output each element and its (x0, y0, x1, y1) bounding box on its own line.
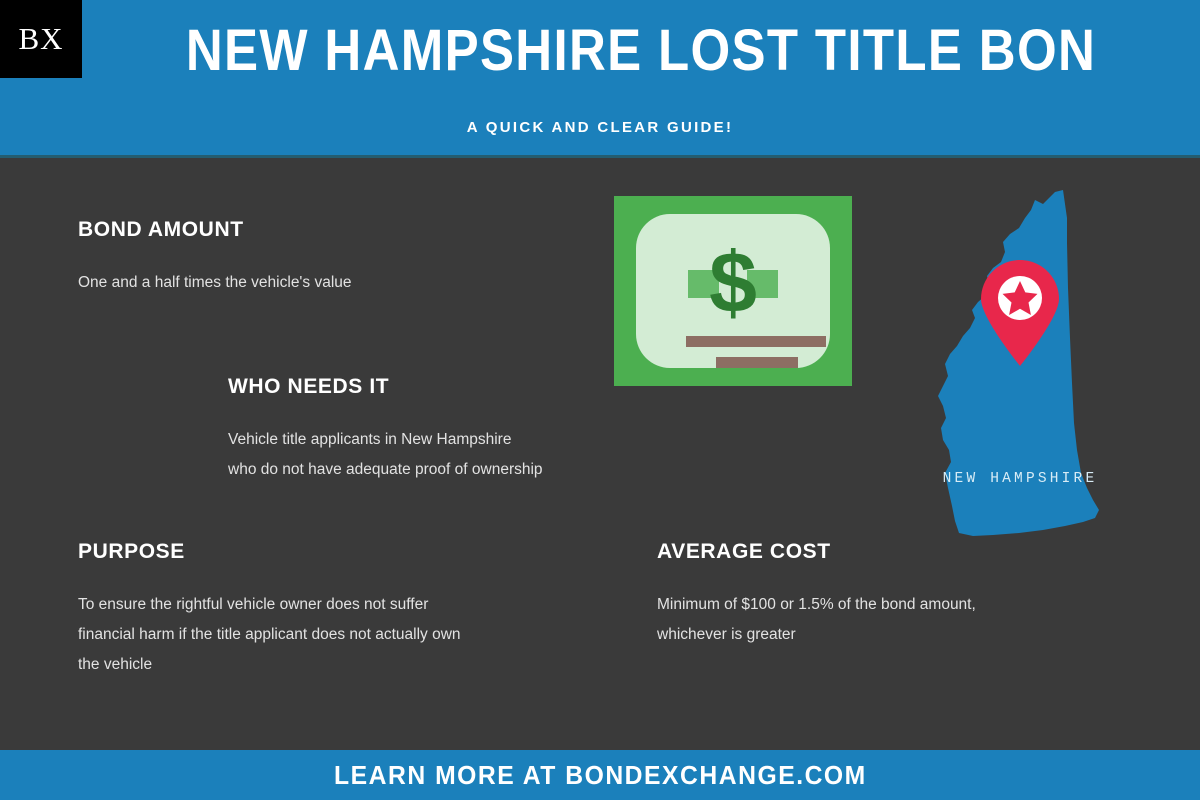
section-heading-average-cost: AVERAGE COST (657, 540, 976, 564)
section-heading-purpose: PURPOSE (78, 540, 461, 564)
map-pin-icon[interactable] (977, 260, 1063, 368)
section-line: One and a half times the vehicle's value (78, 268, 352, 298)
bx-logo[interactable]: BX (0, 0, 82, 78)
page-title: NEW HAMPSHIRE LOST TITLE BON (149, 22, 1133, 80)
footer-cta-text: LEARN MORE AT BONDEXCHANGE.COM (334, 760, 867, 791)
section-body-purpose: To ensure the rightful vehicle owner doe… (78, 590, 461, 680)
map-state-label: NEW HAMPSHIRE (915, 471, 1125, 487)
money-bar-short (716, 357, 798, 368)
money-corner-notch (636, 214, 670, 248)
header-banner: BX NEW HAMPSHIRE LOST TITLE BON A QUICK … (0, 0, 1200, 158)
section-line: financial harm if the title applicant do… (78, 620, 461, 650)
section-heading-bond-amount: BOND AMOUNT (78, 218, 352, 242)
section-line: Minimum of $100 or 1.5% of the bond amou… (657, 590, 976, 620)
section-who-needs-it: WHO NEEDS IT Vehicle title applicants in… (228, 375, 543, 485)
money-corner-notch (636, 334, 670, 368)
section-heading-who-needs-it: WHO NEEDS IT (228, 375, 543, 399)
dollar-sign-icon: $ (709, 240, 757, 326)
money-corner-notch (796, 214, 830, 248)
bx-logo-text: BX (18, 21, 63, 57)
section-body-who-needs-it: Vehicle title applicants in New Hampshir… (228, 425, 543, 485)
section-line: the vehicle (78, 650, 461, 680)
section-line: Vehicle title applicants in New Hampshir… (228, 425, 543, 455)
section-purpose: PURPOSE To ensure the rightful vehicle o… (78, 540, 461, 680)
page-subtitle: A QUICK AND CLEAR GUIDE! (0, 119, 1200, 136)
money-bill-paper: $ (636, 214, 830, 368)
footer-banner[interactable]: LEARN MORE AT BONDEXCHANGE.COM (0, 750, 1200, 800)
money-bill-icon: $ (614, 196, 852, 386)
section-line: To ensure the rightful vehicle owner doe… (78, 590, 461, 620)
money-bar-long (686, 336, 826, 347)
section-body-bond-amount: One and a half times the vehicle's value (78, 268, 352, 298)
section-line: who do not have adequate proof of owners… (228, 455, 543, 485)
section-line: whichever is greater (657, 620, 976, 650)
section-average-cost: AVERAGE COST Minimum of $100 or 1.5% of … (657, 540, 976, 650)
new-hampshire-map: NEW HAMPSHIRE (915, 188, 1125, 538)
section-bond-amount: BOND AMOUNT One and a half times the veh… (78, 218, 352, 298)
section-body-average-cost: Minimum of $100 or 1.5% of the bond amou… (657, 590, 976, 650)
